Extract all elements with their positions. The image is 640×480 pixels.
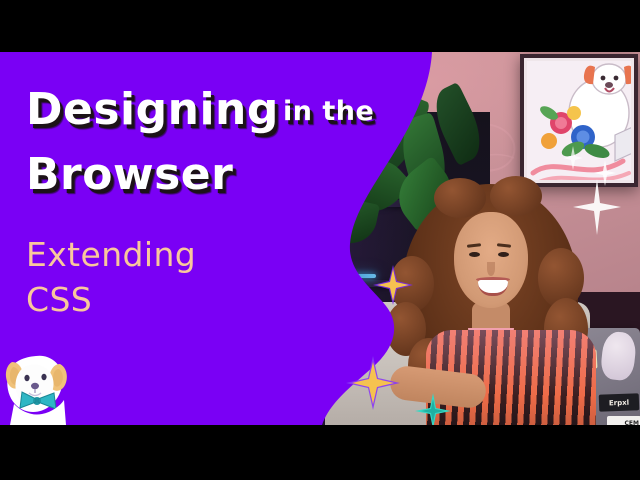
video-frame: JS Erpxl CEM (0, 0, 640, 480)
letterbox-top (0, 0, 640, 52)
dog-mascot-icon (2, 352, 74, 425)
nose (487, 262, 495, 276)
eye (498, 252, 509, 257)
eye (469, 252, 480, 257)
title-line2: Browser (26, 149, 233, 200)
video-content: JS Erpxl CEM (0, 52, 640, 425)
smile (478, 280, 508, 296)
subtitle-line1: Extending (26, 235, 196, 274)
subtitle-line2: CSS (26, 280, 92, 319)
face (454, 212, 528, 308)
title-line1-main: Designing (26, 84, 279, 135)
title-line1-small: in the (283, 96, 374, 127)
letterbox-bottom (0, 425, 640, 480)
